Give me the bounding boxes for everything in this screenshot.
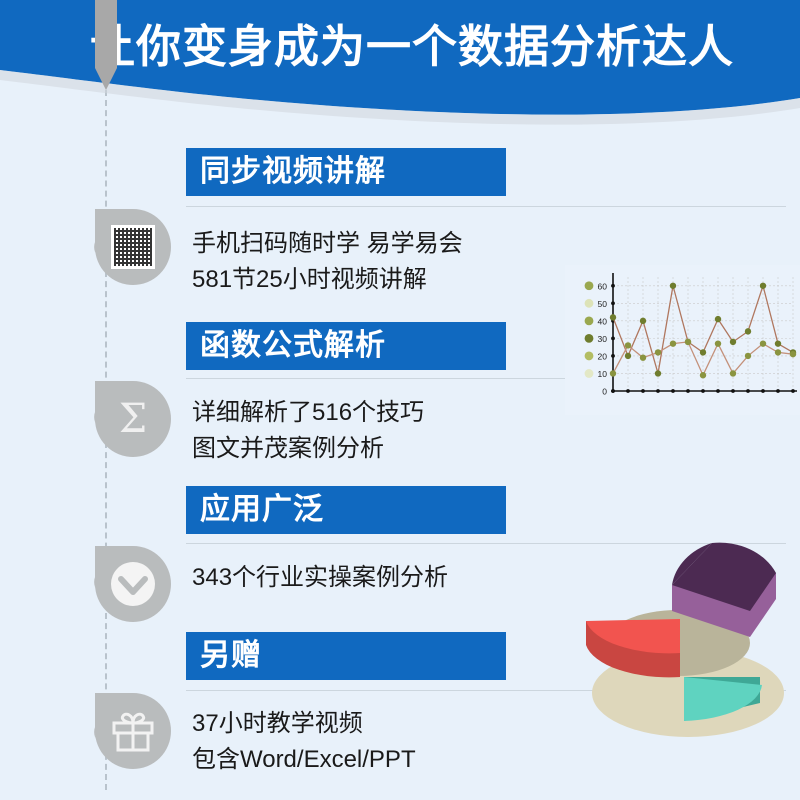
section-2-line-2: 图文并茂案例分析 <box>192 431 424 467</box>
svg-text:60: 60 <box>598 281 608 291</box>
line-chart: 0102030405060 <box>565 265 800 415</box>
pencil-tip-icon <box>95 68 117 90</box>
qr-code-glyph <box>111 225 155 269</box>
sigma-icon: Σ <box>95 381 171 457</box>
gift-glyph <box>110 709 156 753</box>
qr-code-icon <box>95 209 171 285</box>
section-heading-2: 函数公式解析 <box>186 322 506 370</box>
page-title: 让你变身成为一个数据分析达人 <box>90 16 790 78</box>
pie-slice-red <box>586 619 680 677</box>
section-divider-1 <box>186 206 786 207</box>
pie-chart-3d <box>580 525 800 740</box>
svg-text:40: 40 <box>598 316 608 326</box>
section-3-line-1: 343个行业实操案例分析 <box>192 560 448 596</box>
svg-text:20: 20 <box>598 351 608 361</box>
svg-text:0: 0 <box>602 387 607 397</box>
section-2-line-1: 详细解析了516个技巧 <box>192 395 424 431</box>
check-circle-glyph <box>108 559 158 609</box>
section-4-line-2: 包含Word/Excel/PPT <box>192 742 416 778</box>
section-1-line-2: 581节25小时视频讲解 <box>192 262 463 298</box>
section-heading-3: 应用广泛 <box>186 486 506 534</box>
section-body-4: 37小时教学视频 包含Word/Excel/PPT <box>192 706 416 778</box>
svg-text:10: 10 <box>598 369 608 379</box>
gift-icon <box>95 693 171 769</box>
section-1-line-1: 手机扫码随时学 易学易会 <box>192 226 463 262</box>
section-heading-4: 另赠 <box>186 632 506 680</box>
check-circle-icon <box>95 546 171 622</box>
section-body-2: 详细解析了516个技巧 图文并茂案例分析 <box>192 395 424 467</box>
svg-text:30: 30 <box>598 334 608 344</box>
section-4-line-1: 37小时教学视频 <box>192 706 416 742</box>
sigma-glyph: Σ <box>119 399 147 439</box>
section-heading-1: 同步视频讲解 <box>186 148 506 196</box>
pencil-bar <box>95 0 117 68</box>
section-body-1: 手机扫码随时学 易学易会 581节25小时视频讲解 <box>192 226 463 298</box>
section-body-3: 343个行业实操案例分析 <box>192 560 448 596</box>
svg-text:50: 50 <box>598 299 608 309</box>
